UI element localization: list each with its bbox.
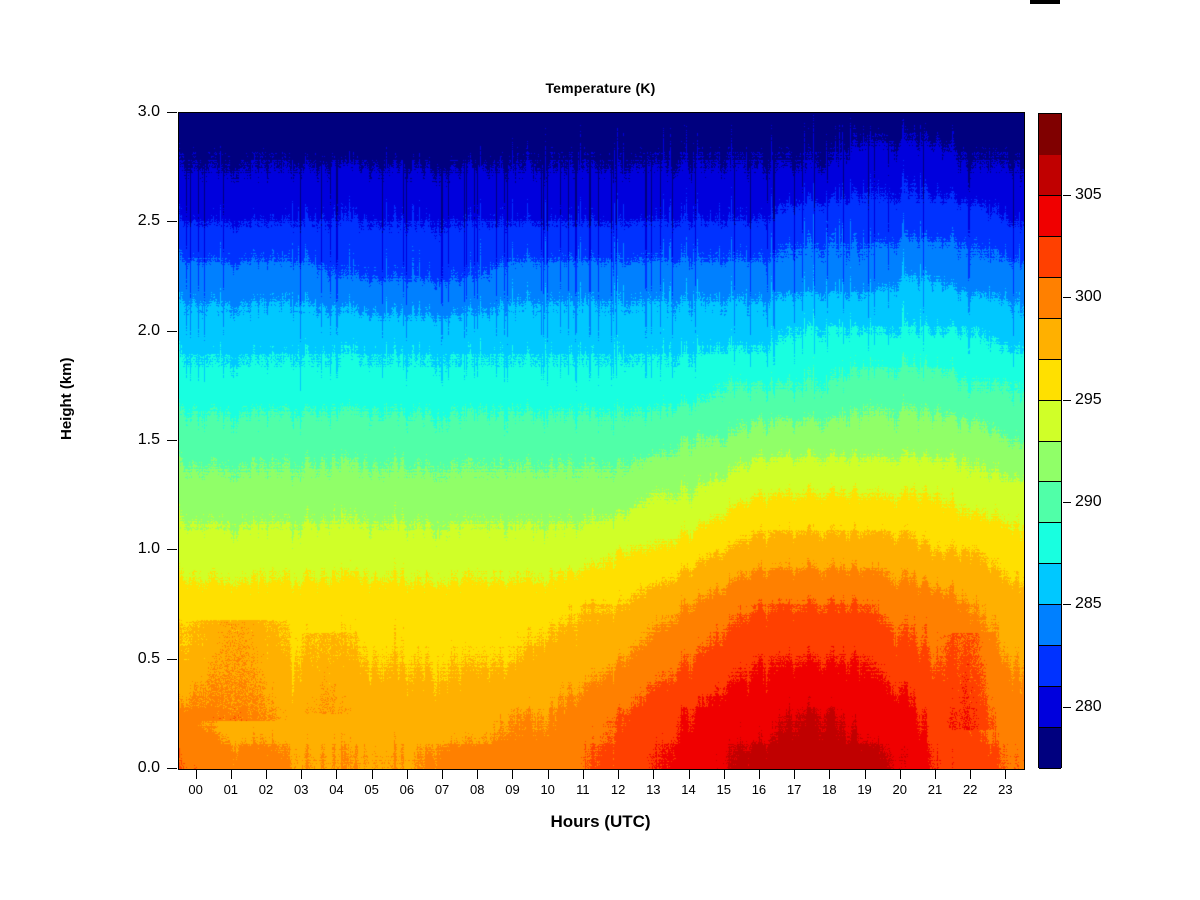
colorbar-tick [1063, 502, 1071, 503]
y-axis-tick-label: 1.5 [106, 431, 160, 449]
x-axis-tick-label: 20 [893, 782, 907, 797]
heatmap-plot-area [178, 112, 1025, 770]
x-axis-tick-label: 07 [435, 782, 449, 797]
x-axis-tick-label: 12 [611, 782, 625, 797]
colorbar-band [1039, 687, 1061, 728]
x-axis-tick-label: 01 [224, 782, 238, 797]
colorbar-band [1039, 728, 1061, 769]
y-axis-tick [167, 221, 177, 222]
colorbar-band [1039, 605, 1061, 646]
x-axis-tick-label: 16 [752, 782, 766, 797]
colorbar [1038, 113, 1062, 768]
x-axis-tick-label: 18 [822, 782, 836, 797]
x-axis-tick [301, 769, 302, 779]
y-axis-title: Height (km) [58, 358, 75, 441]
x-axis-tick [548, 769, 549, 779]
colorbar-band [1039, 523, 1061, 564]
x-axis-tick [900, 769, 901, 779]
x-axis-tick-label: 05 [364, 782, 378, 797]
x-axis-tick [724, 769, 725, 779]
colorbar-tick-label: 280 [1075, 698, 1102, 716]
y-axis-tick [167, 440, 177, 441]
x-axis-tick [266, 769, 267, 779]
x-axis-tick [442, 769, 443, 779]
colorbar-tick-label: 295 [1075, 391, 1102, 409]
x-axis-tick-label: 23 [998, 782, 1012, 797]
y-axis-tick [167, 549, 177, 550]
colorbar-band [1039, 646, 1061, 687]
x-axis-tick [970, 769, 971, 779]
colorbar-tick-label: 285 [1075, 595, 1102, 613]
x-axis-title: Hours (UTC) [178, 812, 1023, 832]
y-axis-tick-label: 0.0 [106, 759, 160, 777]
x-axis-tick-label: 03 [294, 782, 308, 797]
y-axis-tick [167, 659, 177, 660]
colorbar-band [1039, 155, 1061, 196]
y-axis-tick-label: 1.0 [106, 540, 160, 558]
page-title: Temperature (K) [178, 80, 1023, 96]
x-axis-tick-label: 13 [646, 782, 660, 797]
x-axis-tick [689, 769, 690, 779]
y-axis-tick-label: 0.5 [106, 650, 160, 668]
colorbar-band [1039, 401, 1061, 442]
y-axis-tick-label: 2.5 [106, 212, 160, 230]
colorbar-tick [1063, 707, 1071, 708]
colorbar-band [1039, 319, 1061, 360]
x-axis-tick-label: 10 [540, 782, 554, 797]
x-axis-tick-label: 11 [576, 782, 590, 797]
x-axis-tick-label: 00 [188, 782, 202, 797]
x-axis-tick [407, 769, 408, 779]
colorbar-band [1039, 360, 1061, 401]
x-axis-tick [829, 769, 830, 779]
x-axis-tick [583, 769, 584, 779]
x-axis-tick [477, 769, 478, 779]
colorbar-band [1039, 196, 1061, 237]
x-axis-tick-label: 15 [716, 782, 730, 797]
colorbar-tick [1063, 195, 1071, 196]
x-axis-tick-label: 14 [681, 782, 695, 797]
x-axis-tick [935, 769, 936, 779]
colorbar-tick-label: 300 [1075, 288, 1102, 306]
x-axis-tick [512, 769, 513, 779]
x-axis-tick [865, 769, 866, 779]
y-axis-tick [167, 112, 177, 113]
x-axis-tick [231, 769, 232, 779]
x-axis-tick [618, 769, 619, 779]
x-axis-tick [372, 769, 373, 779]
x-axis-tick-label: 08 [470, 782, 484, 797]
x-axis-tick [794, 769, 795, 779]
colorbar-band [1039, 442, 1061, 483]
x-axis-tick-label: 06 [400, 782, 414, 797]
colorbar-tick-label: 305 [1075, 186, 1102, 204]
temperature-time-height-figure: Temperature (K) 0.00.51.01.52.02.53.0 He… [0, 0, 1200, 900]
top-bar-artifact [1030, 0, 1060, 4]
x-axis-tick-label: 19 [857, 782, 871, 797]
x-axis-tick [759, 769, 760, 779]
x-axis-tick-label: 02 [259, 782, 273, 797]
x-axis-tick-label: 22 [963, 782, 977, 797]
x-axis-tick [1005, 769, 1006, 779]
x-axis-tick-label: 21 [928, 782, 942, 797]
x-axis-tick-label: 17 [787, 782, 801, 797]
y-axis-tick-label: 2.0 [106, 322, 160, 340]
colorbar-tick-label: 290 [1075, 493, 1102, 511]
colorbar-tick [1063, 604, 1071, 605]
colorbar-tick [1063, 400, 1071, 401]
colorbar-band [1039, 278, 1061, 319]
x-axis-tick-label: 04 [329, 782, 343, 797]
x-axis-tick [336, 769, 337, 779]
colorbar-band [1039, 564, 1061, 605]
x-axis-tick-label: 09 [505, 782, 519, 797]
colorbar-band [1039, 482, 1061, 523]
x-axis-tick [653, 769, 654, 779]
x-axis-tick [196, 769, 197, 779]
y-axis-tick [167, 768, 177, 769]
colorbar-band [1039, 237, 1061, 278]
colorbar-tick [1063, 297, 1071, 298]
colorbar-band [1039, 114, 1061, 155]
y-axis-tick [167, 331, 177, 332]
temperature-heatmap [179, 113, 1024, 769]
y-axis-tick-label: 3.0 [106, 103, 160, 121]
